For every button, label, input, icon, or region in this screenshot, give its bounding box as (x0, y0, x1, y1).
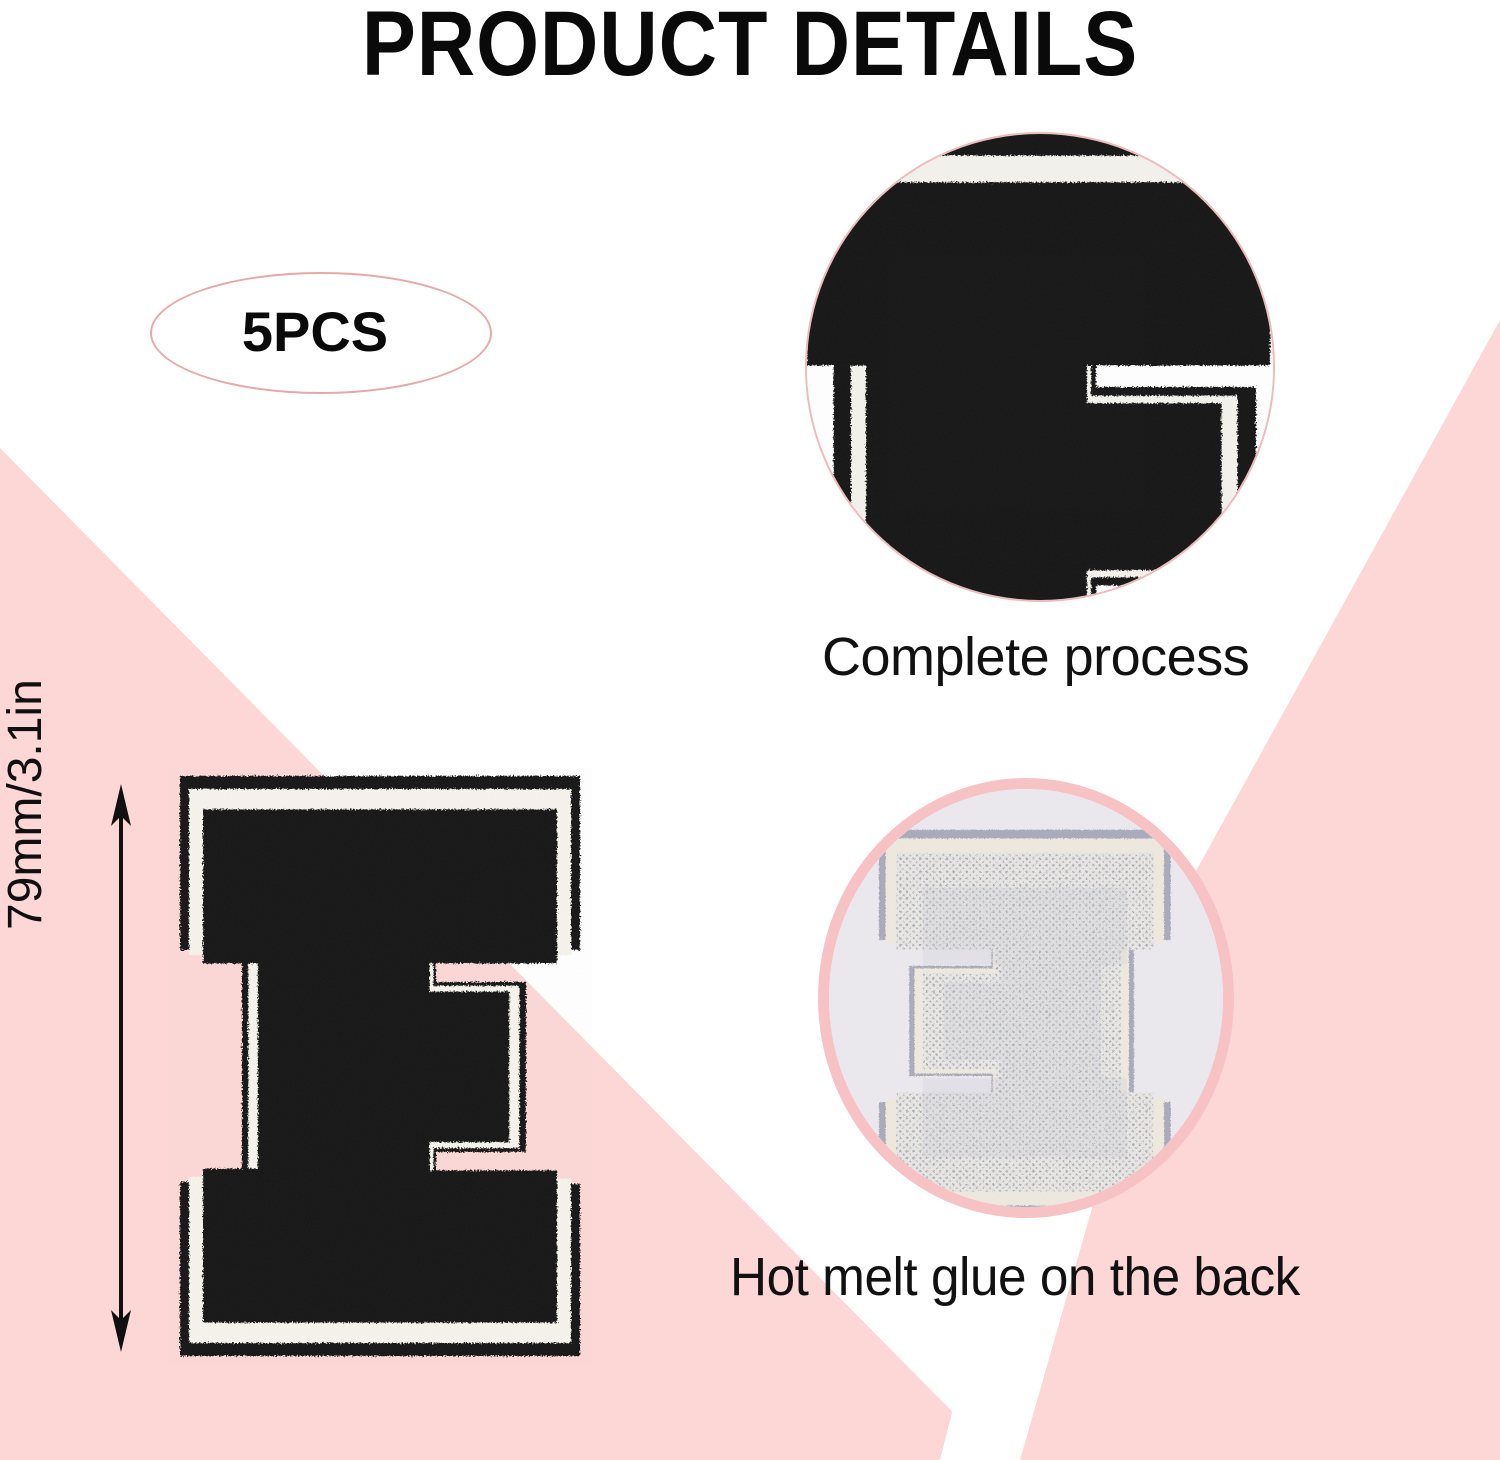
patch-back-glue-image (829, 789, 1223, 1207)
photo-complete-process (805, 132, 1275, 602)
letter-patch-main (168, 768, 592, 1364)
dimension-arrow (98, 782, 144, 1354)
quantity-badge-label: 5PCS (242, 299, 388, 364)
product-details-page: PRODUCT DETAILS 5PCS (0, 0, 1500, 1460)
page-title: PRODUCT DETAILS (90, 0, 1410, 97)
macro-letter-e-front-image (807, 134, 1275, 602)
caption-complete-process: Complete process (822, 626, 1249, 688)
dimension-label: 79mm/3.1in (0, 679, 53, 930)
photo-hot-melt-glue-back (818, 778, 1234, 1218)
caption-hot-melt-glue-back: Hot melt glue on the back (730, 1246, 1300, 1308)
quantity-badge: 5PCS (150, 272, 492, 394)
